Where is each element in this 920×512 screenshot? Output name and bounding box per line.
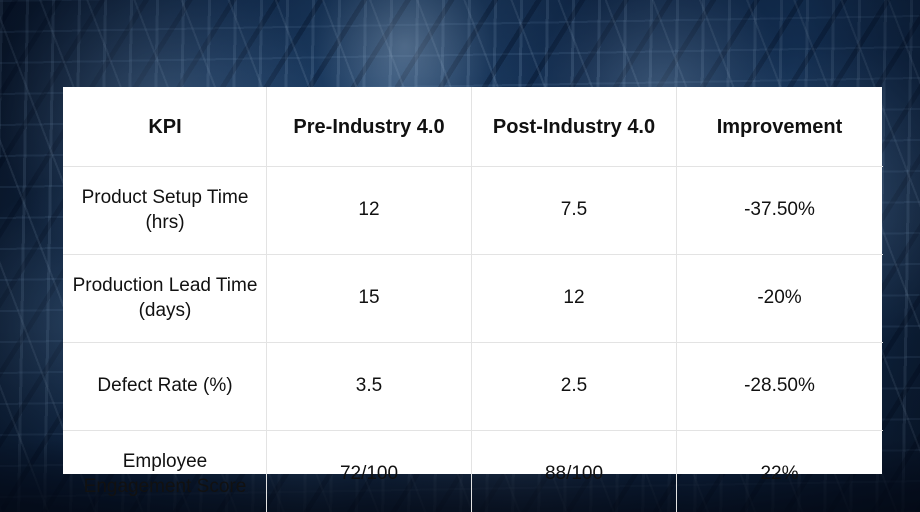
table-header-row: KPI Pre-Industry 4.0 Post-Industry 4.0 I… bbox=[64, 88, 883, 167]
slide-canvas: KPI Pre-Industry 4.0 Post-Industry 4.0 I… bbox=[0, 0, 920, 512]
cell-improvement-value: -28.50% bbox=[677, 343, 883, 431]
cell-kpi-name: Production Lead Time (days) bbox=[64, 255, 267, 343]
table-row: Employee Engagement Score 72/100 88/100 … bbox=[64, 431, 883, 512]
cell-pre-value: 15 bbox=[267, 255, 472, 343]
cell-post-value: 12 bbox=[472, 255, 677, 343]
table-row: Production Lead Time (days) 15 12 -20% bbox=[64, 255, 883, 343]
table-row: Defect Rate (%) 3.5 2.5 -28.50% bbox=[64, 343, 883, 431]
cell-pre-value: 72/100 bbox=[267, 431, 472, 512]
column-header-improvement: Improvement bbox=[677, 88, 883, 167]
column-header-post: Post-Industry 4.0 bbox=[472, 88, 677, 167]
cell-pre-value: 3.5 bbox=[267, 343, 472, 431]
cell-improvement-value: -20% bbox=[677, 255, 883, 343]
cell-kpi-name: Employee Engagement Score bbox=[64, 431, 267, 512]
cell-post-value: 2.5 bbox=[472, 343, 677, 431]
cell-kpi-name: Product Setup Time (hrs) bbox=[64, 167, 267, 255]
cell-improvement-value: -37.50% bbox=[677, 167, 883, 255]
table-header: KPI Pre-Industry 4.0 Post-Industry 4.0 I… bbox=[64, 88, 883, 167]
cell-improvement-value: 22% bbox=[677, 431, 883, 512]
table-row: Product Setup Time (hrs) 12 7.5 -37.50% bbox=[64, 167, 883, 255]
kpi-table-card: KPI Pre-Industry 4.0 Post-Industry 4.0 I… bbox=[63, 87, 882, 474]
table-body: Product Setup Time (hrs) 12 7.5 -37.50% … bbox=[64, 167, 883, 512]
column-header-pre: Pre-Industry 4.0 bbox=[267, 88, 472, 167]
column-header-kpi: KPI bbox=[64, 88, 267, 167]
cell-kpi-name: Defect Rate (%) bbox=[64, 343, 267, 431]
cell-pre-value: 12 bbox=[267, 167, 472, 255]
cell-post-value: 88/100 bbox=[472, 431, 677, 512]
cell-post-value: 7.5 bbox=[472, 167, 677, 255]
kpi-comparison-table: KPI Pre-Industry 4.0 Post-Industry 4.0 I… bbox=[63, 87, 883, 512]
